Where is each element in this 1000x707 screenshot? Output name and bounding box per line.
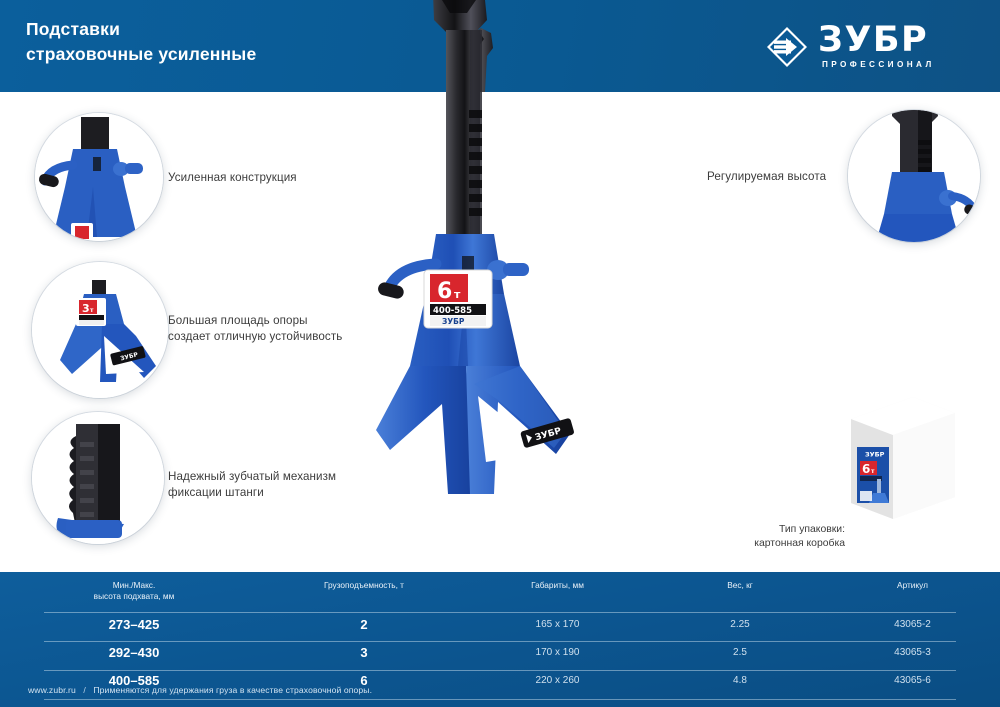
feature-label-adjustable-height: Регулируемая высота <box>707 169 826 185</box>
cell-capacity: 2 <box>268 617 460 632</box>
page-title-line1: Подставки <box>26 19 120 39</box>
svg-text:т: т <box>454 288 461 301</box>
table-header-height-line1: Мин./Макс. <box>113 580 156 590</box>
feature-label-ratchet-mechanism: Надежный зубчатый механизм фиксации штан… <box>168 469 336 501</box>
cell-article: 43065-2 <box>825 619 1000 630</box>
footer-note: www.zubr.ru / Применяются для удержания … <box>28 685 372 695</box>
cell-height: 273–425 <box>0 617 268 632</box>
cell-height: 292–430 <box>0 645 268 660</box>
cell-capacity: 3 <box>268 645 460 660</box>
table-row: 273–425 2 165 x 170 2.25 43065-2 <box>0 610 1000 638</box>
cell-article: 43065-6 <box>825 675 1000 686</box>
table-header-weight: Вес, кг <box>655 572 825 610</box>
feature-circle-ratchet-mechanism <box>32 412 164 544</box>
packaging-label-line2: картонная коробка <box>754 538 845 549</box>
svg-text:3: 3 <box>82 302 90 315</box>
svg-text:т: т <box>871 468 875 475</box>
table-header-dimensions: Габариты, мм <box>460 572 655 610</box>
packaging-label-line1: Тип упаковки: <box>779 524 845 535</box>
cell-dimensions: 165 x 170 <box>460 619 655 630</box>
packaging-box-image: ЗУБР 6 т <box>843 393 958 523</box>
feature-image-adjustable-height <box>848 110 980 242</box>
footer-website[interactable]: www.zubr.ru <box>28 685 76 695</box>
svg-text:400-585: 400-585 <box>433 306 472 316</box>
product-tonnage-sticker: 6 т 400-585 ЗУБР <box>424 270 492 328</box>
product-datasheet-page: Подставки страховочные усиленные <box>0 0 1000 707</box>
svg-text:ЗУБР: ЗУБР <box>865 451 885 459</box>
feature-image-ratchet-mechanism <box>32 412 164 544</box>
footer-separator: / <box>78 685 91 695</box>
feature-label-line1: Большая площадь опоры <box>168 314 308 327</box>
table-row: 292–430 3 170 x 190 2.5 43065-3 <box>0 638 1000 666</box>
table-header-capacity: Грузоподъемность, т <box>268 572 460 610</box>
page-title: Подставки страховочные усиленные <box>26 17 256 67</box>
feature-image-reinforced-construction <box>35 113 163 241</box>
cell-weight: 2.5 <box>655 647 825 658</box>
svg-text:6: 6 <box>437 279 452 304</box>
packaging-label: ЗУБР 6 т <box>857 447 889 503</box>
main-product-image: 6 т 400-585 ЗУБР ЗУБР <box>370 0 670 574</box>
table-header-article: Артикул <box>825 572 1000 610</box>
cell-dimensions: 220 x 260 <box>460 675 655 686</box>
table-rule <box>44 699 956 700</box>
footer-description: Применяются для удержания груза в качест… <box>93 685 372 695</box>
cell-weight: 2.25 <box>655 619 825 630</box>
feature-label-line2: фиксации штанги <box>168 486 264 499</box>
feature-label-line2: создает отличную устойчивость <box>168 330 342 343</box>
feature-label-reinforced-construction: Усиленная конструкция <box>168 170 297 186</box>
packaging-type-label: Тип упаковки: картонная коробка <box>690 523 845 551</box>
feature-circle-adjustable-height <box>848 110 980 242</box>
cell-weight: 4.8 <box>655 675 825 686</box>
brand-logo: ЗУБР ПРОФЕССИОНАЛ <box>766 22 978 74</box>
cell-article: 43065-3 <box>825 647 1000 658</box>
svg-text:ЗУБР: ЗУБР <box>442 317 465 326</box>
zubr-diamond-arrow-icon <box>766 26 808 68</box>
cell-dimensions: 170 x 190 <box>460 647 655 658</box>
svg-text:6: 6 <box>862 462 870 476</box>
specification-table: Мин./Макс. высота подхвата, мм Грузоподъ… <box>0 572 1000 694</box>
feature-circle-large-support-area: 3 т ЗУБР <box>32 262 168 398</box>
page-title-line2: страховочные усиленные <box>26 42 256 67</box>
brand-tagline: ПРОФЕССИОНАЛ <box>822 60 935 69</box>
brand-name: ЗУБР <box>818 22 928 58</box>
svg-text:т: т <box>90 307 94 314</box>
feature-circle-reinforced-construction <box>35 113 163 241</box>
feature-label-line1: Надежный зубчатый механизм <box>168 470 336 483</box>
table-header-height: Мин./Макс. высота подхвата, мм <box>0 572 268 610</box>
feature-image-large-support-area: 3 т ЗУБР <box>32 262 168 398</box>
table-header-height-line2: высота подхвата, мм <box>0 591 268 602</box>
feature-label-large-support-area: Большая площадь опоры создает отличную у… <box>168 313 342 345</box>
table-header-row: Мин./Макс. высота подхвата, мм Грузоподъ… <box>0 572 1000 610</box>
feature-tonnage-sticker-3t: 3 т <box>76 298 106 326</box>
